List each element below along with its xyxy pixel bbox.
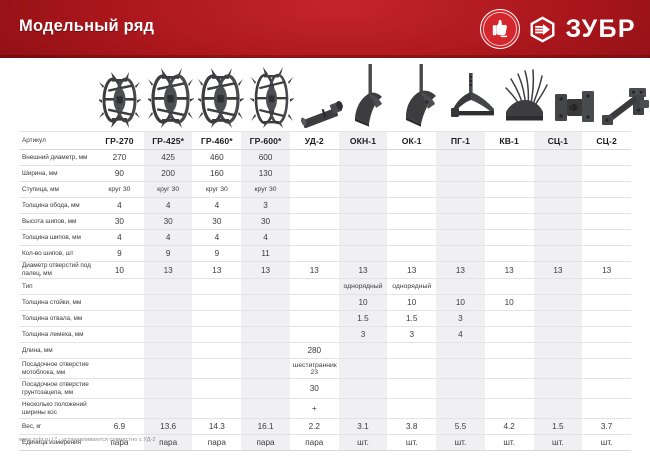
cell-СЦ-2 — [582, 399, 631, 419]
cell-КВ-1: шт. — [485, 435, 534, 451]
table-row: Кол-во шипов, шт99911 — [19, 246, 631, 262]
column-header-gr-270: ГР-270 — [95, 132, 144, 150]
column-header-ok-1: ОК-1 — [387, 132, 436, 150]
cell-КВ-1 — [485, 182, 534, 198]
table-row: Толщина отвала, мм1.51.53 — [19, 311, 631, 327]
cell-УД-2 — [290, 279, 339, 295]
brand-logo-block: ЗУБР — [480, 8, 636, 50]
page-title: Модельный ряд — [19, 17, 154, 36]
row-label: Несколько положений ширины кос — [19, 399, 95, 419]
cell-ГР-460*: 9 — [192, 246, 241, 262]
cell-УД-2: 280 — [290, 343, 339, 359]
cell-СЦ-1 — [534, 166, 583, 182]
cell-ГР-460* — [192, 295, 241, 311]
cell-ОК-1 — [387, 182, 436, 198]
cell-ОК-1 — [387, 214, 436, 230]
cell-ОК-1: 3.8 — [387, 419, 436, 435]
cell-ГР-460*: 13 — [192, 262, 241, 279]
cell-ГР-270: 6.9 — [95, 419, 144, 435]
cell-СЦ-2 — [582, 166, 631, 182]
cell-ГР-600*: 600 — [241, 150, 290, 166]
table-body: Внешний диаметр, мм270425460600Ширина, м… — [19, 150, 631, 451]
cell-СЦ-1: шт. — [534, 435, 583, 451]
row-label: Посадочное отверстие грунтозацепа, мм — [19, 379, 95, 399]
cell-ГР-425*: 30 — [144, 214, 193, 230]
cell-ОКН-1: 3 — [339, 327, 388, 343]
cell-СЦ-2 — [582, 379, 631, 399]
cell-ГР-425*: 200 — [144, 166, 193, 182]
cell-ОК-1 — [387, 150, 436, 166]
table-row: Ступица, ммкруг 30круг 30круг 30круг 30 — [19, 182, 631, 198]
cell-УД-2 — [290, 198, 339, 214]
cell-ГР-600*: пара — [241, 435, 290, 451]
cell-УД-2: пара — [290, 435, 339, 451]
cell-ГР-425* — [144, 359, 193, 379]
footer-note: www.zubr.ru / * - устанавливаются совмес… — [19, 437, 156, 443]
cell-УД-2: 30 — [290, 379, 339, 399]
cell-ГР-600*: 130 — [241, 166, 290, 182]
cell-ГР-600*: 11 — [241, 246, 290, 262]
cell-ОК-1 — [387, 230, 436, 246]
row-label: Толщина стойки, мм — [19, 295, 95, 311]
row-label: Тип — [19, 279, 95, 295]
product-image-ok-1 — [398, 58, 448, 130]
cell-ГР-425* — [144, 295, 193, 311]
cell-ГР-270: 30 — [95, 214, 144, 230]
cell-КВ-1 — [485, 327, 534, 343]
column-header-gr-425: ГР-425* — [144, 132, 193, 150]
cell-ГР-270 — [95, 399, 144, 419]
table-row: Несколько положений ширины кос+ — [19, 399, 631, 419]
cell-ГР-600* — [241, 279, 290, 295]
cell-КВ-1: 4.2 — [485, 419, 534, 435]
cell-ГР-600*: круг 30 — [241, 182, 290, 198]
cell-ОК-1: 1.5 — [387, 311, 436, 327]
cell-ПГ-1: 3 — [436, 311, 485, 327]
hiller-plough-icon — [449, 70, 497, 128]
row-label: Толщина шипов, мм — [19, 230, 95, 246]
cell-СЦ-2 — [582, 295, 631, 311]
grouser-wheel-icon — [198, 66, 244, 128]
cell-ОКН-1 — [339, 182, 388, 198]
cell-ОКН-1 — [339, 379, 388, 399]
cell-ГР-460* — [192, 359, 241, 379]
cell-ПГ-1 — [436, 182, 485, 198]
product-image-gr-425 — [145, 58, 195, 130]
cell-ПГ-1 — [436, 150, 485, 166]
cell-СЦ-2 — [582, 279, 631, 295]
product-image-gr-600 — [246, 58, 296, 130]
cell-ГР-425* — [144, 311, 193, 327]
cell-ОК-1: 10 — [387, 295, 436, 311]
cell-КВ-1: 13 — [485, 262, 534, 279]
row-label: Толщина обода, мм — [19, 198, 95, 214]
cell-ГР-270: 270 — [95, 150, 144, 166]
cell-СЦ-1 — [534, 279, 583, 295]
table-row: Толщина обода, мм4443 — [19, 198, 631, 214]
row-label: Диаметр отверстий под палец, мм — [19, 262, 95, 279]
cell-ОК-1 — [387, 359, 436, 379]
cell-КВ-1 — [485, 343, 534, 359]
table-row: Толщина стойки, мм10101010 — [19, 295, 631, 311]
cell-ГР-600* — [241, 399, 290, 419]
cell-СЦ-1 — [534, 150, 583, 166]
cell-ОК-1: 3 — [387, 327, 436, 343]
cell-ГР-270: 9 — [95, 246, 144, 262]
cell-УД-2: шестигранник 23 — [290, 359, 339, 379]
model-range-spec-sheet: Модельный ряд ЗУБР — [0, 0, 650, 459]
cell-ОКН-1 — [339, 230, 388, 246]
cell-ОКН-1: 1.5 — [339, 311, 388, 327]
cell-ПГ-1 — [436, 279, 485, 295]
product-image-sc-1 — [549, 58, 599, 130]
cell-КВ-1 — [485, 150, 534, 166]
cell-ГР-460*: пара — [192, 435, 241, 451]
cell-СЦ-1 — [534, 327, 583, 343]
column-header-gr-600: ГР-600* — [241, 132, 290, 150]
table-row: Ширина, мм90200160130 — [19, 166, 631, 182]
cell-ГР-600*: 30 — [241, 214, 290, 230]
cell-ПГ-1: шт. — [436, 435, 485, 451]
row-label: Толщина отвала, мм — [19, 311, 95, 327]
cell-СЦ-2 — [582, 311, 631, 327]
cell-УД-2 — [290, 230, 339, 246]
thumbs-up-glyph-icon — [492, 19, 509, 40]
cell-ОК-1 — [387, 343, 436, 359]
table-row: Посадочное отверстие грунтозацепа, мм30 — [19, 379, 631, 399]
cell-ОК-1 — [387, 379, 436, 399]
column-header-sc-2: СЦ-2 — [582, 132, 631, 150]
cell-ГР-270 — [95, 327, 144, 343]
cell-ГР-600* — [241, 359, 290, 379]
cell-ПГ-1: 5.5 — [436, 419, 485, 435]
product-image-okn-1 — [347, 58, 397, 130]
cell-ОКН-1: 3.1 — [339, 419, 388, 435]
cell-СЦ-1 — [534, 343, 583, 359]
cell-СЦ-2: шт. — [582, 435, 631, 451]
cell-ГР-270: 4 — [95, 198, 144, 214]
cell-СЦ-2 — [582, 230, 631, 246]
cell-ОК-1: шт. — [387, 435, 436, 451]
column-header-gr-460: ГР-460* — [192, 132, 241, 150]
row-label: Кол-во шипов, шт — [19, 246, 95, 262]
cell-УД-2: 2.2 — [290, 419, 339, 435]
cell-ГР-425*: 13.6 — [144, 419, 193, 435]
cell-СЦ-1 — [534, 214, 583, 230]
cell-СЦ-2 — [582, 246, 631, 262]
grouser-wheel-icon — [250, 66, 294, 128]
product-image-sc-2 — [600, 58, 650, 130]
single-row-plough-icon — [403, 64, 443, 128]
cell-ГР-425* — [144, 399, 193, 419]
cell-ГР-600*: 3 — [241, 198, 290, 214]
cell-ГР-270 — [95, 295, 144, 311]
cell-ГР-600*: 4 — [241, 230, 290, 246]
cell-КВ-1 — [485, 214, 534, 230]
cell-ГР-600*: 13 — [241, 262, 290, 279]
cell-УД-2 — [290, 150, 339, 166]
cell-СЦ-1 — [534, 246, 583, 262]
cell-ОКН-1: 13 — [339, 262, 388, 279]
row-label: Внешний диаметр, мм — [19, 150, 95, 166]
cell-ПГ-1 — [436, 214, 485, 230]
cell-СЦ-1 — [534, 198, 583, 214]
cell-ГР-460*: 30 — [192, 214, 241, 230]
table-row: Высота шипов, мм30303030 — [19, 214, 631, 230]
cell-ГР-270 — [95, 379, 144, 399]
cell-ПГ-1 — [436, 379, 485, 399]
cell-СЦ-1: 1.5 — [534, 419, 583, 435]
cell-ОКН-1 — [339, 359, 388, 379]
row-label: Вес, кг — [19, 419, 95, 435]
cell-ГР-460*: круг 30 — [192, 182, 241, 198]
product-image-ud-2 — [297, 58, 347, 130]
cell-СЦ-2 — [582, 198, 631, 214]
cell-ГР-600* — [241, 311, 290, 327]
cell-УД-2 — [290, 182, 339, 198]
table-row: Диаметр отверстий под палец, мм101313131… — [19, 262, 631, 279]
table-row: Длина, мм280 — [19, 343, 631, 359]
cell-СЦ-1 — [534, 311, 583, 327]
row-label: Толщина лемеха, мм — [19, 327, 95, 343]
cell-СЦ-2: 13 — [582, 262, 631, 279]
cell-КВ-1 — [485, 279, 534, 295]
cell-УД-2 — [290, 214, 339, 230]
cell-УД-2 — [290, 246, 339, 262]
cell-ОК-1 — [387, 166, 436, 182]
column-header-ud-2: УД-2 — [290, 132, 339, 150]
cell-ГР-425* — [144, 327, 193, 343]
cell-ГР-425* — [144, 379, 193, 399]
cell-ГР-425*: 9 — [144, 246, 193, 262]
cell-ГР-460* — [192, 379, 241, 399]
cell-ОКН-1 — [339, 343, 388, 359]
cell-ПГ-1 — [436, 399, 485, 419]
cell-ОК-1: однорядный — [387, 279, 436, 295]
cell-ГР-270: круг 30 — [95, 182, 144, 198]
cell-УД-2 — [290, 295, 339, 311]
cell-УД-2 — [290, 311, 339, 327]
cell-УД-2: + — [290, 399, 339, 419]
table-header-row: Артикул ГР-270 ГР-425* ГР-460* ГР-600* У… — [19, 132, 631, 150]
cell-ГР-425*: круг 30 — [144, 182, 193, 198]
table-row: Толщина шипов, мм4444 — [19, 230, 631, 246]
cell-СЦ-1: 13 — [534, 262, 583, 279]
table-row: Типоднорядныйоднорядный — [19, 279, 631, 295]
cell-КВ-1 — [485, 198, 534, 214]
brand-wordmark: ЗУБР — [565, 17, 636, 42]
cell-ГР-460*: 460 — [192, 150, 241, 166]
cell-ГР-460* — [192, 311, 241, 327]
cell-ПГ-1: 13 — [436, 262, 485, 279]
cell-ОКН-1: 10 — [339, 295, 388, 311]
cell-КВ-1 — [485, 399, 534, 419]
cell-ГР-460* — [192, 279, 241, 295]
cell-ГР-600* — [241, 343, 290, 359]
cell-ОК-1: 13 — [387, 262, 436, 279]
product-image-kv-1 — [499, 58, 549, 130]
cell-ОКН-1 — [339, 246, 388, 262]
cell-ОКН-1: шт. — [339, 435, 388, 451]
cell-КВ-1 — [485, 230, 534, 246]
cell-ГР-460*: 4 — [192, 230, 241, 246]
product-image-strip — [0, 58, 650, 132]
cell-ГР-270: 90 — [95, 166, 144, 182]
column-header-kv-1: КВ-1 — [485, 132, 534, 150]
cell-СЦ-1 — [534, 379, 583, 399]
cell-ОК-1 — [387, 246, 436, 262]
cell-ГР-425*: 13 — [144, 262, 193, 279]
row-label: Ступица, мм — [19, 182, 95, 198]
cell-ГР-460*: 14.3 — [192, 419, 241, 435]
cell-ГР-270: 10 — [95, 262, 144, 279]
single-row-plough-icon — [352, 64, 392, 128]
cell-ОКН-1: однорядный — [339, 279, 388, 295]
cell-ПГ-1 — [436, 166, 485, 182]
cell-ГР-600* — [241, 379, 290, 399]
cell-ГР-460* — [192, 327, 241, 343]
row-label: Длина, мм — [19, 343, 95, 359]
cell-КВ-1 — [485, 379, 534, 399]
header-label-articul: Артикул — [19, 132, 95, 150]
cell-ОКН-1 — [339, 399, 388, 419]
cell-ОК-1 — [387, 198, 436, 214]
cell-ПГ-1: 4 — [436, 327, 485, 343]
axle-extension-rod-icon — [298, 94, 346, 128]
cell-СЦ-2: 3.7 — [582, 419, 631, 435]
cell-КВ-1: 10 — [485, 295, 534, 311]
cell-ГР-460*: 160 — [192, 166, 241, 182]
cell-УД-2: 13 — [290, 262, 339, 279]
cell-СЦ-1 — [534, 295, 583, 311]
cell-ПГ-1: 10 — [436, 295, 485, 311]
cell-ОКН-1 — [339, 166, 388, 182]
cell-ОК-1 — [387, 399, 436, 419]
cell-СЦ-1 — [534, 230, 583, 246]
cell-СЦ-2 — [582, 182, 631, 198]
cell-ГР-270 — [95, 343, 144, 359]
cell-ПГ-1 — [436, 359, 485, 379]
cell-ГР-425*: 4 — [144, 198, 193, 214]
cell-ГР-270 — [95, 359, 144, 379]
cell-КВ-1 — [485, 246, 534, 262]
cell-СЦ-1 — [534, 399, 583, 419]
potato-digger-icon — [500, 68, 548, 128]
cell-ГР-270 — [95, 311, 144, 327]
cell-ОКН-1 — [339, 198, 388, 214]
cell-СЦ-2 — [582, 150, 631, 166]
row-label: Высота шипов, мм — [19, 214, 95, 230]
cell-ОКН-1 — [339, 150, 388, 166]
cell-УД-2 — [290, 327, 339, 343]
product-image-pg-1 — [448, 58, 498, 130]
cell-ГР-425*: 4 — [144, 230, 193, 246]
cell-ГР-425* — [144, 343, 193, 359]
cell-ГР-270 — [95, 279, 144, 295]
product-image-gr-460 — [196, 58, 246, 130]
cell-СЦ-2 — [582, 343, 631, 359]
hitch-arm-bracket-icon — [600, 86, 650, 128]
row-label: Ширина, мм — [19, 166, 95, 182]
row-label: Посадочное отверстие мотоблока, мм — [19, 359, 95, 379]
cell-СЦ-2 — [582, 327, 631, 343]
table-row: Толщина лемеха, мм334 — [19, 327, 631, 343]
cell-ГР-460* — [192, 343, 241, 359]
cell-СЦ-1 — [534, 359, 583, 379]
cell-СЦ-2 — [582, 359, 631, 379]
cell-ГР-460* — [192, 399, 241, 419]
specification-table: Артикул ГР-270 ГР-425* ГР-460* ГР-600* У… — [19, 131, 631, 451]
table-row: Внешний диаметр, мм270425460600 — [19, 150, 631, 166]
hitch-bracket-icon — [551, 88, 597, 128]
grouser-wheel-icon — [148, 66, 194, 128]
cell-КВ-1 — [485, 359, 534, 379]
thumbs-up-emblem-icon — [480, 9, 520, 49]
cell-ГР-600*: 16.1 — [241, 419, 290, 435]
cell-ГР-270: 4 — [95, 230, 144, 246]
cell-ГР-600* — [241, 327, 290, 343]
table-row: Посадочное отверстие мотоблока, ммшестиг… — [19, 359, 631, 379]
product-image-gr-270 — [95, 58, 145, 130]
cell-СЦ-2 — [582, 214, 631, 230]
cell-ГР-425*: 425 — [144, 150, 193, 166]
arrow-hexagon-icon — [528, 15, 557, 44]
page-banner: Модельный ряд ЗУБР — [0, 0, 650, 58]
cell-ГР-425* — [144, 279, 193, 295]
cell-ГР-600* — [241, 295, 290, 311]
cell-КВ-1 — [485, 311, 534, 327]
column-header-sc-1: СЦ-1 — [534, 132, 583, 150]
column-header-pg-1: ПГ-1 — [436, 132, 485, 150]
cell-ПГ-1 — [436, 246, 485, 262]
table-row: Вес, кг6.913.614.316.12.23.13.85.54.21.5… — [19, 419, 631, 435]
cell-СЦ-1 — [534, 182, 583, 198]
cell-ОКН-1 — [339, 214, 388, 230]
grouser-wheel-icon — [99, 68, 141, 128]
cell-ПГ-1 — [436, 343, 485, 359]
cell-КВ-1 — [485, 166, 534, 182]
cell-ПГ-1 — [436, 198, 485, 214]
cell-ПГ-1 — [436, 230, 485, 246]
table-head: Артикул ГР-270 ГР-425* ГР-460* ГР-600* У… — [19, 132, 631, 150]
column-header-okn-1: ОКН-1 — [339, 132, 388, 150]
cell-УД-2 — [290, 166, 339, 182]
cell-ГР-460*: 4 — [192, 198, 241, 214]
